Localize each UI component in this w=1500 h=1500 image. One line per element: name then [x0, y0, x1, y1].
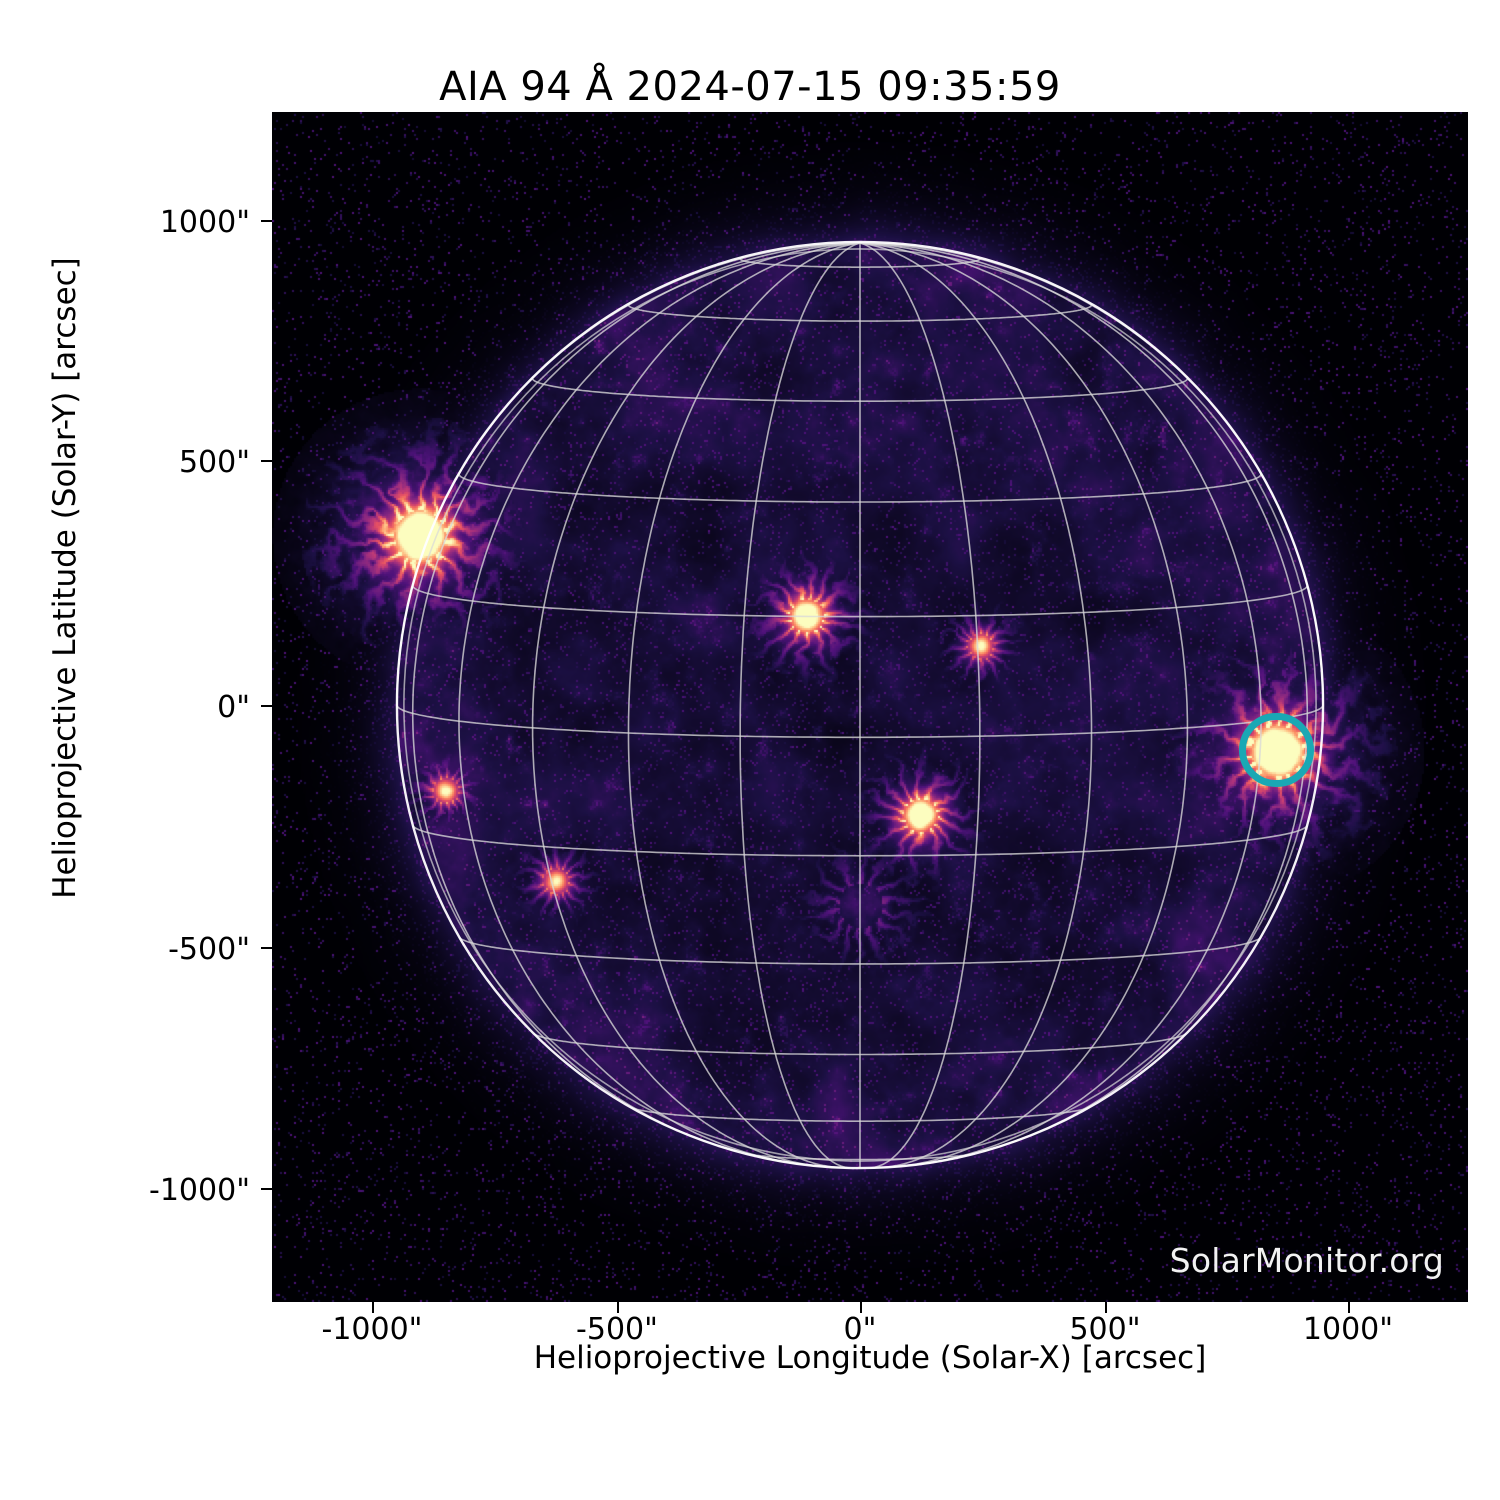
- x-tick-mark-500: [1105, 1302, 1107, 1313]
- watermark-label: SolarMonitor.org: [1170, 1241, 1444, 1280]
- y-tick-mark-0: [261, 705, 272, 707]
- page-title: AIA 94 Å 2024-07-15 09:35:59: [0, 64, 1500, 110]
- y-axis-label: Helioprojective Latitude (Solar-Y) [arcs…: [47, 128, 83, 1028]
- solar-image-figure: AIA 94 Å 2024-07-15 09:35:59 Helioprojec…: [0, 0, 1500, 1500]
- grid-line: [860, 243, 1092, 1168]
- y-tick-label-1000: 1000": [50, 205, 250, 240]
- grid-line: [459, 243, 860, 1165]
- grid-line: [860, 243, 1187, 1167]
- grid-line: [533, 243, 860, 1167]
- grid-line: [413, 243, 860, 1151]
- grid-line: [860, 243, 1307, 1151]
- x-tick-mark-0: [860, 1302, 862, 1313]
- heliographic-grid: [272, 112, 1468, 1302]
- grid-line: [860, 243, 1261, 1165]
- y-tick-mark-m1000: [261, 1188, 272, 1190]
- solar-image-plot[interactable]: SolarMonitor.org: [272, 112, 1468, 1302]
- grid-line: [860, 243, 980, 1168]
- grid-line: [629, 243, 861, 1168]
- x-axis-label: Helioprojective Longitude (Solar-X) [arc…: [272, 1340, 1468, 1376]
- y-tick-label-0: 0": [50, 690, 250, 725]
- y-tick-mark-1000: [261, 220, 272, 222]
- x-tick-mark-m1000: [372, 1302, 374, 1313]
- grid-line: [740, 243, 860, 1168]
- y-tick-label-500: 500": [50, 445, 250, 480]
- flare-region-annotation-circle[interactable]: [1239, 713, 1313, 787]
- y-tick-mark-m500: [261, 947, 272, 949]
- y-tick-label-m1000: -1000": [50, 1173, 250, 1208]
- y-tick-label-m500: -500": [50, 932, 250, 967]
- x-tick-mark-1000: [1348, 1302, 1350, 1313]
- x-tick-mark-m500: [617, 1302, 619, 1313]
- y-tick-mark-500: [261, 460, 272, 462]
